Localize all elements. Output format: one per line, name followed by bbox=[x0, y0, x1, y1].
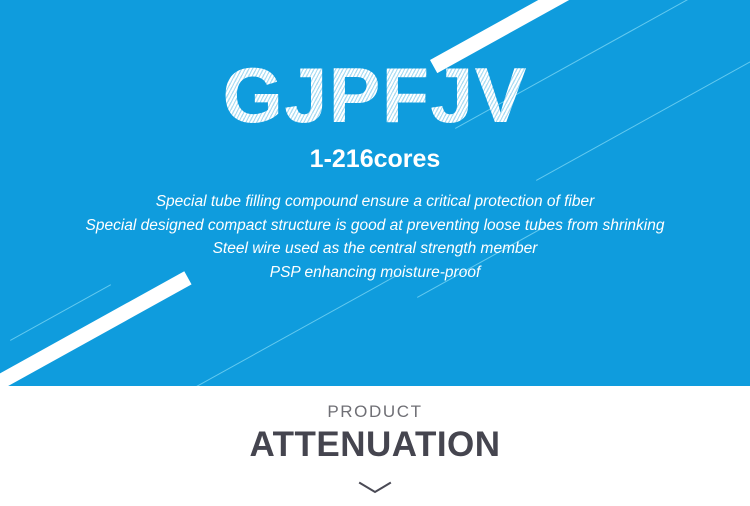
section-heading-block: PRODUCT ATTENUATION bbox=[0, 386, 750, 506]
product-banner-page: GJPFJV 1-216cores Special tube filling c… bbox=[0, 0, 750, 506]
product-core-count-subtitle: 1-216cores bbox=[0, 146, 750, 174]
feature-line: Steel wire used as the central strength … bbox=[0, 237, 750, 261]
feature-line: Special designed compact structure is go… bbox=[0, 214, 750, 238]
feature-list: Special tube filling compound ensure a c… bbox=[0, 190, 750, 284]
section-eyebrow: PRODUCT bbox=[0, 403, 750, 420]
feature-line: Special tube filling compound ensure a c… bbox=[0, 190, 750, 214]
section-title: ATTENUATION bbox=[0, 427, 750, 464]
hero-panel: GJPFJV 1-216cores Special tube filling c… bbox=[0, 0, 750, 386]
chevron-down-icon bbox=[358, 481, 392, 495]
product-model-title: GJPFJV bbox=[0, 56, 750, 134]
hero-content: GJPFJV 1-216cores Special tube filling c… bbox=[0, 0, 750, 386]
feature-line: PSP enhancing moisture-proof bbox=[0, 261, 750, 285]
scroll-down-indicator[interactable] bbox=[0, 478, 750, 498]
